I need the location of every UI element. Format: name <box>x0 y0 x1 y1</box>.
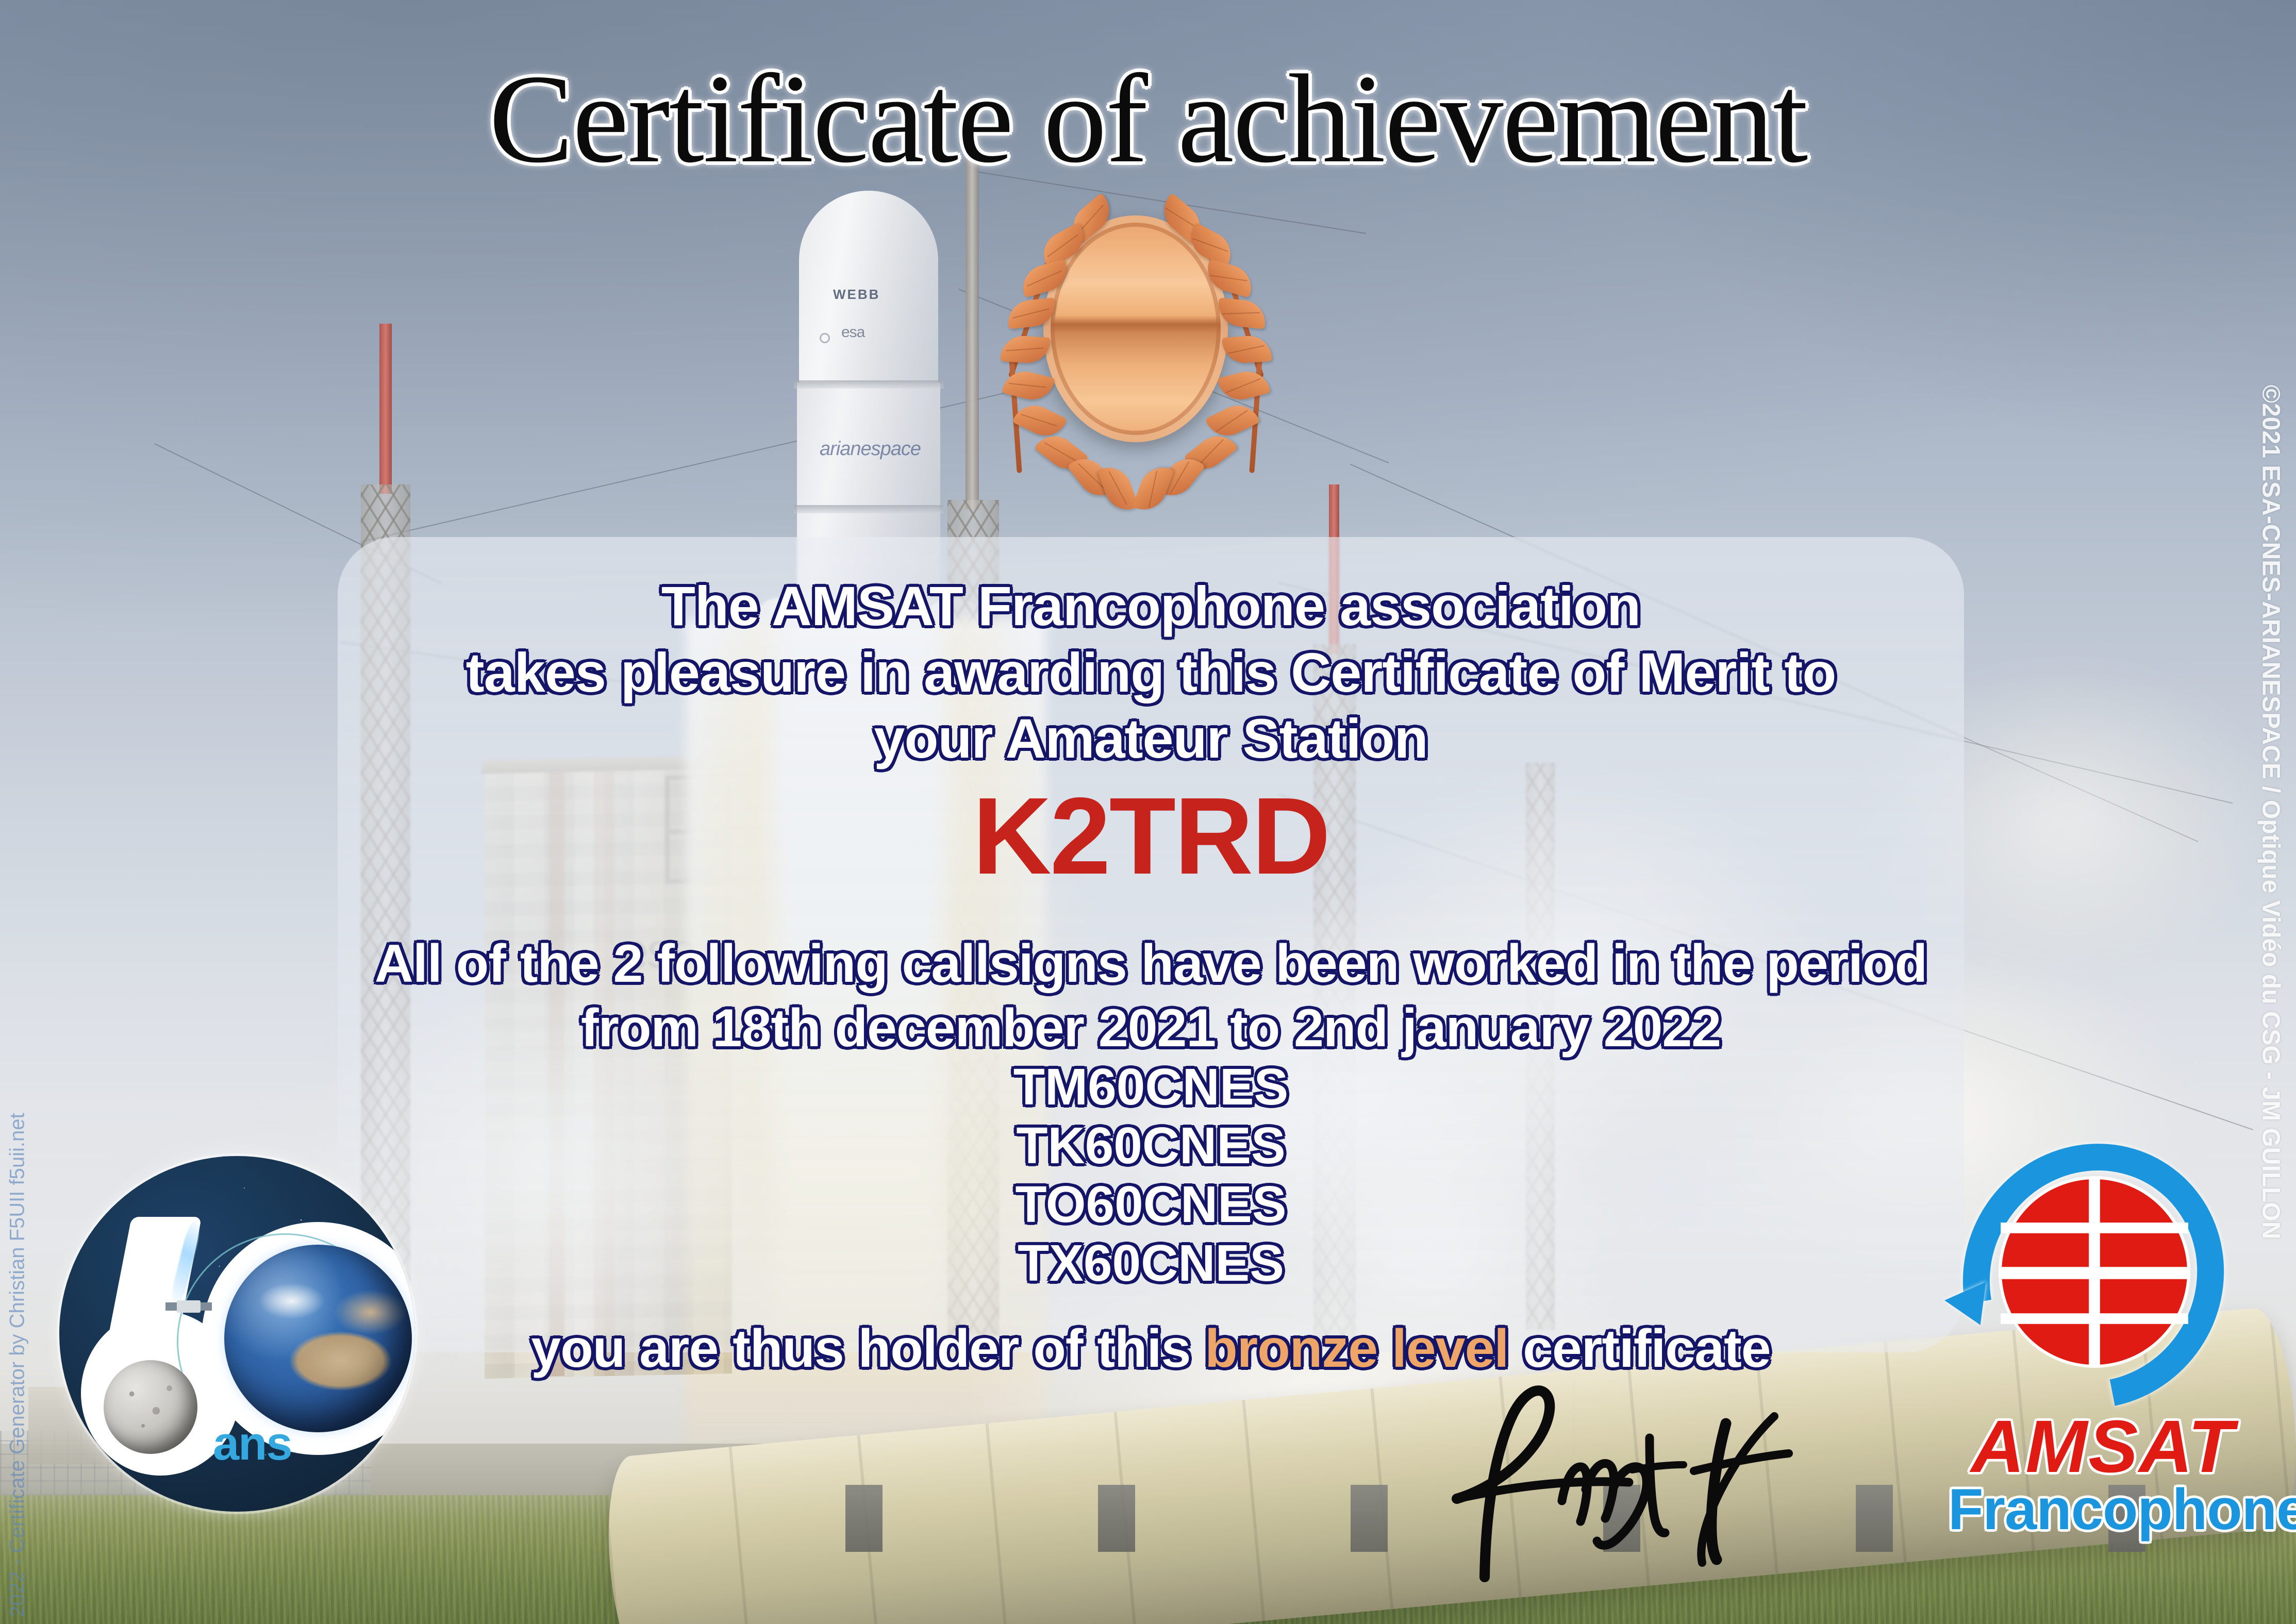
duct-support <box>845 1485 883 1552</box>
earth-icon <box>224 1245 412 1432</box>
arianespace-logo: arianespace <box>820 438 921 460</box>
rocket-band <box>794 505 943 513</box>
award-line-1: The AMSAT Francophone association <box>338 573 1964 640</box>
worked-callsign-item: TM60CNES <box>338 1058 1964 1116</box>
photo-credit-text: ©2021 ESA-CNES-ARIANESPACE / Optique Vid… <box>2257 385 2285 1240</box>
duct-support <box>1098 1485 1135 1552</box>
payload-label: WEBB <box>833 287 880 303</box>
duct-support <box>1603 1485 1640 1552</box>
period-line-1: All of the 2 following callsigns have be… <box>338 932 1964 996</box>
lightning-mast <box>379 324 392 494</box>
worked-callsign-item: TO60CNES <box>338 1175 1964 1234</box>
cnes-60-years-badge: ans <box>59 1156 415 1512</box>
rocket-band <box>794 380 943 389</box>
page-title: Certificate of achievement <box>0 56 2296 182</box>
laurel-leaf <box>1000 334 1050 364</box>
francophone-wordmark: Francophone <box>1948 1476 2257 1543</box>
laurel-leaf <box>1097 461 1139 516</box>
lightning-mast <box>966 154 979 509</box>
fairing-port <box>820 333 830 343</box>
globe-meridian-line <box>2090 1179 2099 1365</box>
laurel-leaf <box>1222 334 1272 364</box>
generator-credit-text: 2022 - Certificate Generator by Christia… <box>6 1113 29 1617</box>
generator-credit: 2022 - Certificate Generator by Christia… <box>0 0 36 1624</box>
satellite-icon <box>177 1300 201 1313</box>
badge-ans-label: ans <box>213 1417 292 1471</box>
period-statement: All of the 2 following callsigns have be… <box>338 932 1964 1061</box>
worked-callsign-item: TK60CNES <box>338 1116 1964 1175</box>
worked-callsign-list: TM60CNES TK60CNES TO60CNES TX60CNES <box>338 1058 1964 1293</box>
award-line-2: takes pleasure in awarding this Certific… <box>338 640 1964 706</box>
duct-support <box>1856 1485 1893 1552</box>
level-statement: you are thus holder of this bronze level… <box>338 1319 1964 1378</box>
level-suffix: certificate <box>1508 1319 1770 1379</box>
level-prefix: you are thus holder of this <box>531 1319 1205 1379</box>
duct-support <box>1351 1485 1388 1552</box>
award-statement: The AMSAT Francophone association takes … <box>338 573 1964 772</box>
worked-callsign-item: TX60CNES <box>338 1234 1964 1293</box>
period-line-2: from 18th december 2021 to 2nd january 2… <box>338 996 1964 1061</box>
certificate-page: esa WEBB esa arianespace esa esa <box>0 0 2296 1624</box>
amsat-francophone-logo: AMSAT Francophone <box>1946 1142 2260 1549</box>
moon-icon <box>104 1360 197 1454</box>
photo-credit: ©2021 ESA-CNES-ARIANESPACE / Optique Vid… <box>2249 0 2293 1624</box>
laurel-wreath-medal <box>978 174 1293 509</box>
level-highlight: bronze level <box>1205 1319 1508 1379</box>
award-line-3: your Amateur Station <box>338 706 1964 772</box>
globe-icon <box>2002 1179 2187 1365</box>
recipient-callsign: K2TRD <box>338 781 1964 891</box>
esa-logo-fairing: esa <box>841 324 864 341</box>
